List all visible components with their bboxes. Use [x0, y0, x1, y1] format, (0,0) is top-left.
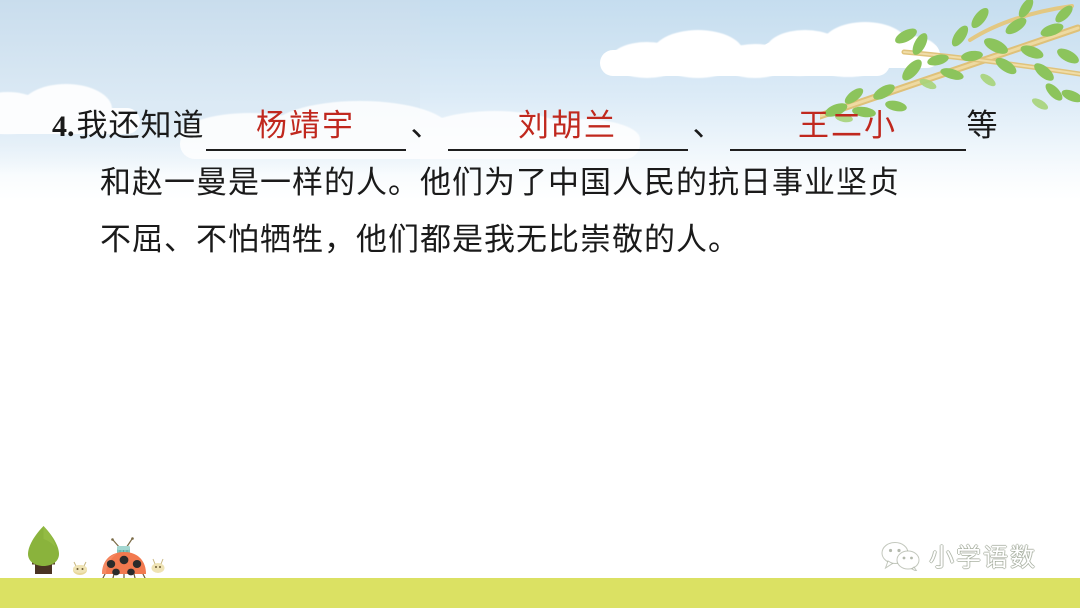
answer-text-3: 王二小 [798, 108, 897, 143]
question-lead-text: 我还知道 [77, 108, 205, 143]
separator-2: 、 [689, 108, 729, 143]
scenery-decoration [14, 522, 174, 586]
question-line-1: 4.我还知道杨靖宇、刘胡兰、王二小等 [52, 104, 1047, 161]
answer-blank-3[interactable]: 王二小 [730, 104, 966, 151]
question-line-2: 和赵一曼是一样的人。他们为了中国人民的抗日事业坚贞 [52, 161, 1047, 218]
ladybug-icon [102, 537, 146, 582]
question-line-3: 不屈、不怕牺牲，他们都是我无比崇敬的人。 [52, 218, 1047, 275]
answer-text-2: 刘胡兰 [518, 108, 617, 143]
wechat-icon [880, 541, 922, 571]
answer-text-1: 杨靖宇 [256, 108, 355, 143]
small-bug-icon [152, 559, 165, 573]
question-line-3-text: 不屈、不怕牺牲，他们都是我无比崇敬的人。 [100, 222, 740, 257]
answer-blank-2[interactable]: 刘胡兰 [448, 104, 688, 151]
watermark: 小学语数 [880, 534, 1070, 578]
question-line-2-text: 和赵一曼是一样的人。他们为了中国人民的抗日事业坚贞 [100, 165, 900, 200]
small-bug-icon [73, 562, 87, 575]
watermark-text: 小学语数 [929, 538, 1037, 574]
grass-strip [0, 578, 1080, 608]
question-number: 4. [52, 110, 75, 143]
slide-canvas: 4.我还知道杨靖宇、刘胡兰、王二小等 和赵一曼是一样的人。他们为了中国人民的抗日… [0, 0, 1080, 608]
question-trail-text: 等 [967, 108, 999, 143]
tree-icon [28, 526, 59, 574]
separator-1: 、 [407, 108, 447, 143]
question-block: 4.我还知道杨靖宇、刘胡兰、王二小等 和赵一曼是一样的人。他们为了中国人民的抗日… [52, 104, 1047, 275]
answer-blank-1[interactable]: 杨靖宇 [206, 104, 406, 151]
